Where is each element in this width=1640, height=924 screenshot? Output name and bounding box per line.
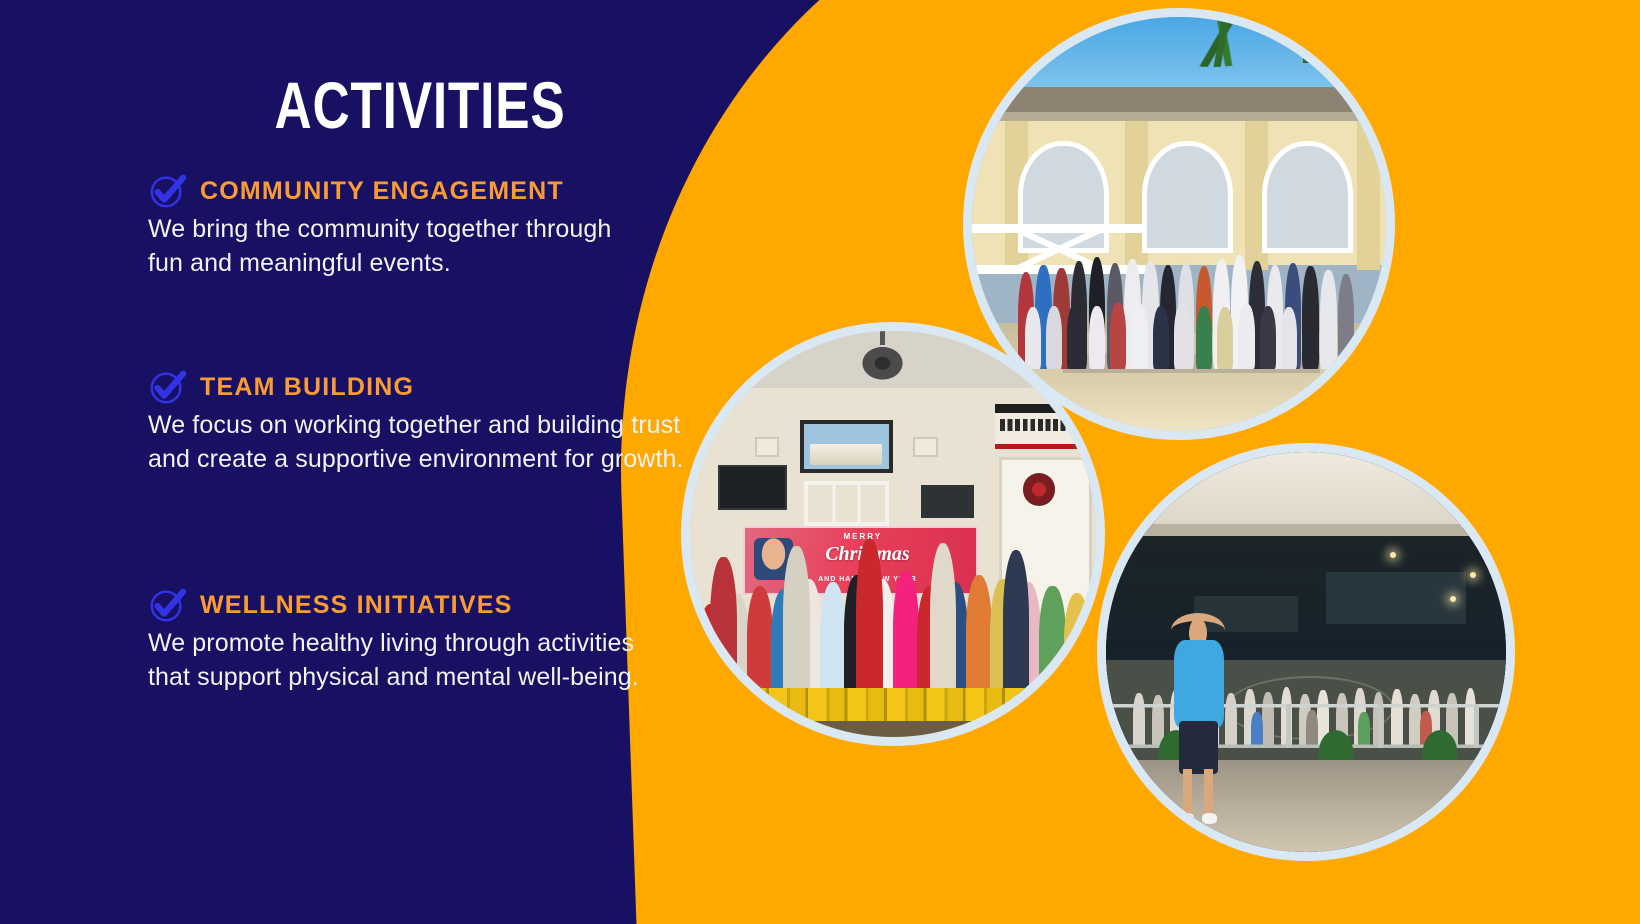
activity-description: We bring the community together through … (148, 212, 648, 280)
exercise-instructor (1166, 600, 1230, 820)
activity-item-team-building: TEAM BUILDING We focus on working togeth… (148, 368, 708, 476)
activity-title: TEAM BUILDING (200, 373, 414, 402)
barangay-hall-sign (995, 404, 1092, 449)
check-circle-icon (148, 586, 186, 624)
activity-description: We promote healthy living through activi… (148, 626, 673, 694)
check-circle-icon (148, 368, 186, 406)
photo-people (690, 518, 1096, 697)
photo-scene: MERRY Christmas AND HAPPY NEW YEAR (690, 331, 1096, 737)
ceiling-fan-icon (852, 343, 913, 388)
activity-item-wellness-initiatives: WELLNESS INITIATIVES We promote healthy … (148, 586, 708, 694)
photo-scene (1106, 452, 1506, 852)
page-title: ACTIVITIES (209, 72, 630, 138)
activity-description: We focus on working together and buildin… (148, 408, 693, 476)
slide-canvas: ACTIVITIES COMMUNITY ENGAGEMENT We bring… (0, 0, 1640, 924)
children-gift-giving-photo: MERRY Christmas AND HAPPY NEW YEAR (681, 322, 1105, 746)
zumba-exercise-photo (1097, 443, 1515, 861)
activity-title: COMMUNITY ENGAGEMENT (200, 177, 564, 206)
check-circle-icon (148, 172, 186, 210)
activity-item-header: WELLNESS INITIATIVES (148, 586, 708, 624)
text-column: ACTIVITIES COMMUNITY ENGAGEMENT We bring… (0, 0, 700, 924)
activity-item-community-engagement: COMMUNITY ENGAGEMENT We bring the commun… (148, 172, 708, 280)
activity-item-header: COMMUNITY ENGAGEMENT (148, 172, 708, 210)
activity-title: WELLNESS INITIATIVES (200, 591, 512, 620)
activity-item-header: TEAM BUILDING (148, 368, 708, 406)
